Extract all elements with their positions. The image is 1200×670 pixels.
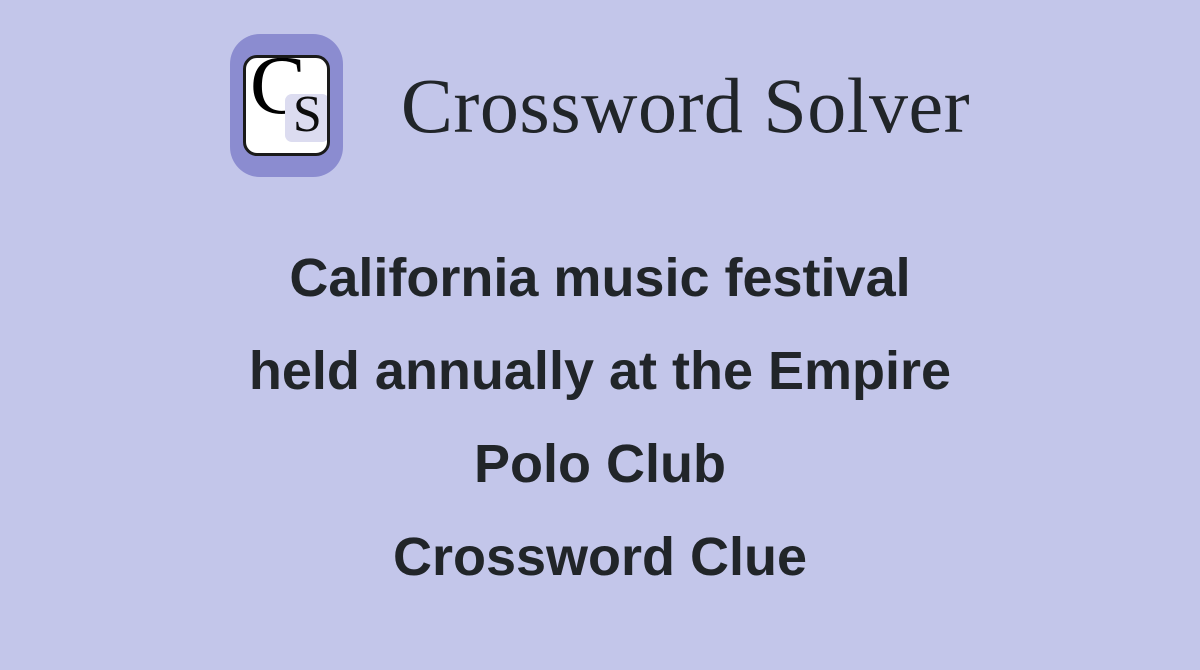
logo-inner-square: C S [243,55,330,156]
page-title: California music festival held annually … [0,232,1200,604]
crossword-solver-logo-icon[interactable]: C S [230,34,343,177]
page-root: C S Crossword Solver California music fe… [0,0,1200,670]
site-title[interactable]: Crossword Solver [401,67,970,145]
page-title-line: held annually at the Empire [60,325,1140,418]
page-title-line: Crossword Clue [60,511,1140,604]
page-title-line: Polo Club [60,418,1140,511]
site-header: C S Crossword Solver [0,28,1200,183]
page-title-line: California music festival [60,232,1140,325]
logo-letter-s: S [293,89,322,141]
